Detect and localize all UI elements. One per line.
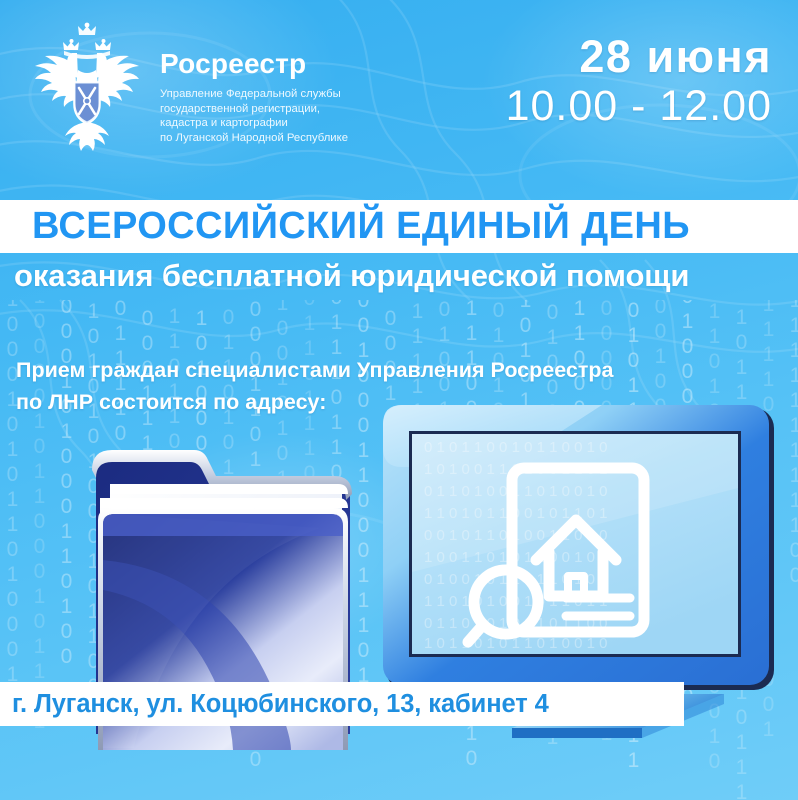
body-text-line-2: по ЛНР состоится по адресу: [16, 386, 614, 418]
brand-subtitle-line-2: государственной регистрации, [160, 102, 348, 117]
event-datetime: 28 июня 10.00 - 12.00 [506, 32, 772, 131]
brand-subtitle-line-4: по Луганской Народной Республике [160, 131, 348, 146]
event-date: 28 июня [506, 32, 772, 82]
poster-canvas: 1000101011010001010000101100010110100010… [0, 0, 798, 800]
headline-main: ВСЕРОССИЙСКИЙ ЕДИНЫЙ ДЕНЬ [0, 205, 690, 248]
address-text: г. Луганск, ул. Коцюбинского, 13, кабине… [0, 690, 549, 719]
russian-double-headed-eagle-emblem [26, 22, 148, 158]
body-text-line-1: Прием граждан специалистами Управления Р… [16, 354, 614, 386]
body-text: Прием граждан специалистами Управления Р… [16, 354, 614, 418]
brand-subtitle-line-1: Управление Федеральной службы [160, 87, 348, 102]
brand-name: Росреестр [160, 50, 348, 78]
brand-subtitle: Управление Федеральной службы государств… [160, 87, 348, 145]
event-time: 10.00 - 12.00 [506, 82, 772, 131]
headline-band: ВСЕРОССИЙСКИЙ ЕДИНЫЙ ДЕНЬ [0, 200, 798, 253]
headline-sub: оказания бесплатной юридической помощи [14, 258, 689, 294]
brand-block: Росреестр Управление Федеральной службы … [160, 22, 348, 145]
brand-subtitle-line-3: кадастра и картографии [160, 116, 348, 131]
address-band: г. Луганск, ул. Коцюбинского, 13, кабине… [0, 682, 684, 726]
header: Росреестр Управление Федеральной службы … [26, 22, 348, 158]
